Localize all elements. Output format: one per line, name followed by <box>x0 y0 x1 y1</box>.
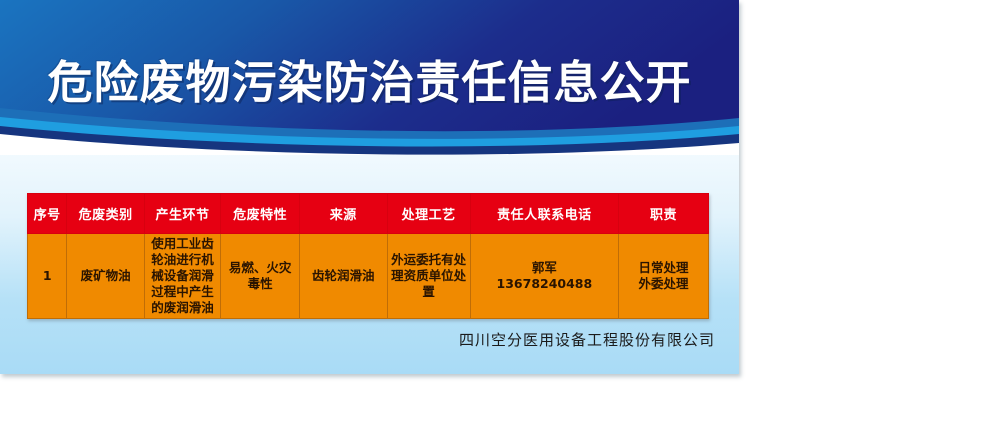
column-header-duty: 职责 <box>619 194 709 234</box>
column-header-treatment-process: 处理工艺 <box>387 194 470 234</box>
column-header-generation-stage: 产生环节 <box>144 194 220 234</box>
column-header-index: 序号 <box>28 194 67 234</box>
hazardous-waste-table: 序号 危废类别 产生环节 危废特性 来源 处理工艺 责任人联系电话 职责 1 废… <box>27 193 709 319</box>
cell-generation-stage: 使用工业齿轮油进行机械设备润滑过程中产生的废润滑油 <box>144 234 220 319</box>
contact-phone: 13678240488 <box>474 276 615 292</box>
page-title: 危险废物污染防治责任信息公开 <box>0 46 739 111</box>
column-header-contact-phone: 责任人联系电话 <box>470 194 618 234</box>
cell-source: 齿轮润滑油 <box>299 234 387 319</box>
column-header-hazard-property: 危废特性 <box>221 194 300 234</box>
contact-name: 郭军 <box>474 260 615 276</box>
poster-banner: 危险废物污染防治责任信息公开 <box>0 0 739 155</box>
information-disclosure-poster: 危险废物污染防治责任信息公开 序号 危废类别 产生环节 危废特性 来源 处理工艺… <box>0 0 739 374</box>
column-header-source: 来源 <box>299 194 387 234</box>
table-header-row: 序号 危废类别 产生环节 危废特性 来源 处理工艺 责任人联系电话 职责 <box>28 194 709 234</box>
cell-hazard-property: 易燃、火灾毒性 <box>221 234 300 319</box>
cell-category: 废矿物油 <box>67 234 145 319</box>
cell-index: 1 <box>28 234 67 319</box>
column-header-category: 危废类别 <box>67 194 145 234</box>
company-name: 四川空分医用设备工程股份有限公司 <box>0 329 715 350</box>
duty-line-1: 日常处理 <box>622 260 705 276</box>
cell-duty: 日常处理 外委处理 <box>619 234 709 319</box>
cell-contact: 郭军 13678240488 <box>470 234 618 319</box>
table-row: 1 废矿物油 使用工业齿轮油进行机械设备润滑过程中产生的废润滑油 易燃、火灾毒性… <box>28 234 709 319</box>
duty-line-2: 外委处理 <box>622 276 705 292</box>
cell-treatment-process: 外运委托有处理资质单位处置 <box>387 234 470 319</box>
